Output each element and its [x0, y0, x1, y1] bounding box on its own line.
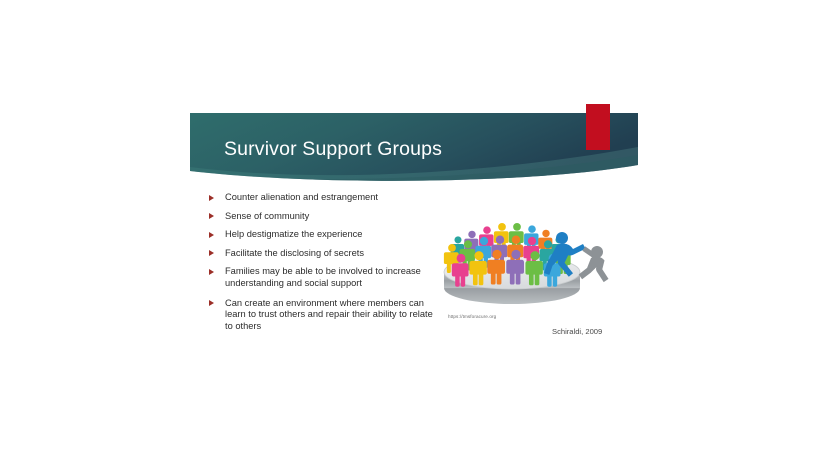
image-source-url: https://tmsforacure.org — [448, 314, 496, 319]
group-of-people-on-disc-clipart — [428, 196, 614, 318]
triangle-bullet-icon — [209, 195, 214, 201]
list-item: Counter alienation and estrangement — [205, 192, 443, 204]
list-item: Families may be able to be involved to i… — [205, 266, 443, 289]
bullet-list: Counter alienation and estrangement Sens… — [205, 192, 443, 332]
triangle-bullet-icon — [209, 232, 214, 238]
presentation-slide: Survivor Support Groups Counter alienati… — [180, 104, 646, 361]
list-item-label: Counter alienation and estrangement — [225, 192, 378, 202]
list-item-label: Facilitate the disclosing of secrets — [225, 248, 364, 258]
screenshot-canvas: Survivor Support Groups Counter alienati… — [0, 0, 819, 460]
list-item-label: Sense of community — [225, 211, 309, 221]
grey-figure — [579, 246, 609, 282]
slide-body: Counter alienation and estrangement Sens… — [180, 192, 646, 361]
triangle-bullet-icon — [209, 213, 214, 219]
red-accent-bar — [586, 104, 610, 150]
triangle-bullet-icon — [209, 250, 214, 256]
citation-attribution: Schiraldi, 2009 — [552, 327, 602, 336]
page-title: Survivor Support Groups — [224, 138, 442, 161]
list-item: Can create an environment where members … — [205, 298, 443, 333]
slide-title-banner: Survivor Support Groups — [190, 113, 638, 185]
list-item-label: Families may be able to be involved to i… — [225, 266, 421, 288]
list-item: Facilitate the disclosing of secrets — [205, 248, 443, 260]
list-item-label: Help destigmatize the experience — [225, 229, 362, 239]
list-item-label: Can create an environment where members … — [225, 298, 433, 331]
clipart-illustration — [428, 196, 614, 318]
triangle-bullet-icon — [209, 269, 214, 275]
list-item: Sense of community — [205, 211, 443, 223]
list-item: Help destigmatize the experience — [205, 229, 443, 241]
triangle-bullet-icon — [209, 300, 214, 306]
